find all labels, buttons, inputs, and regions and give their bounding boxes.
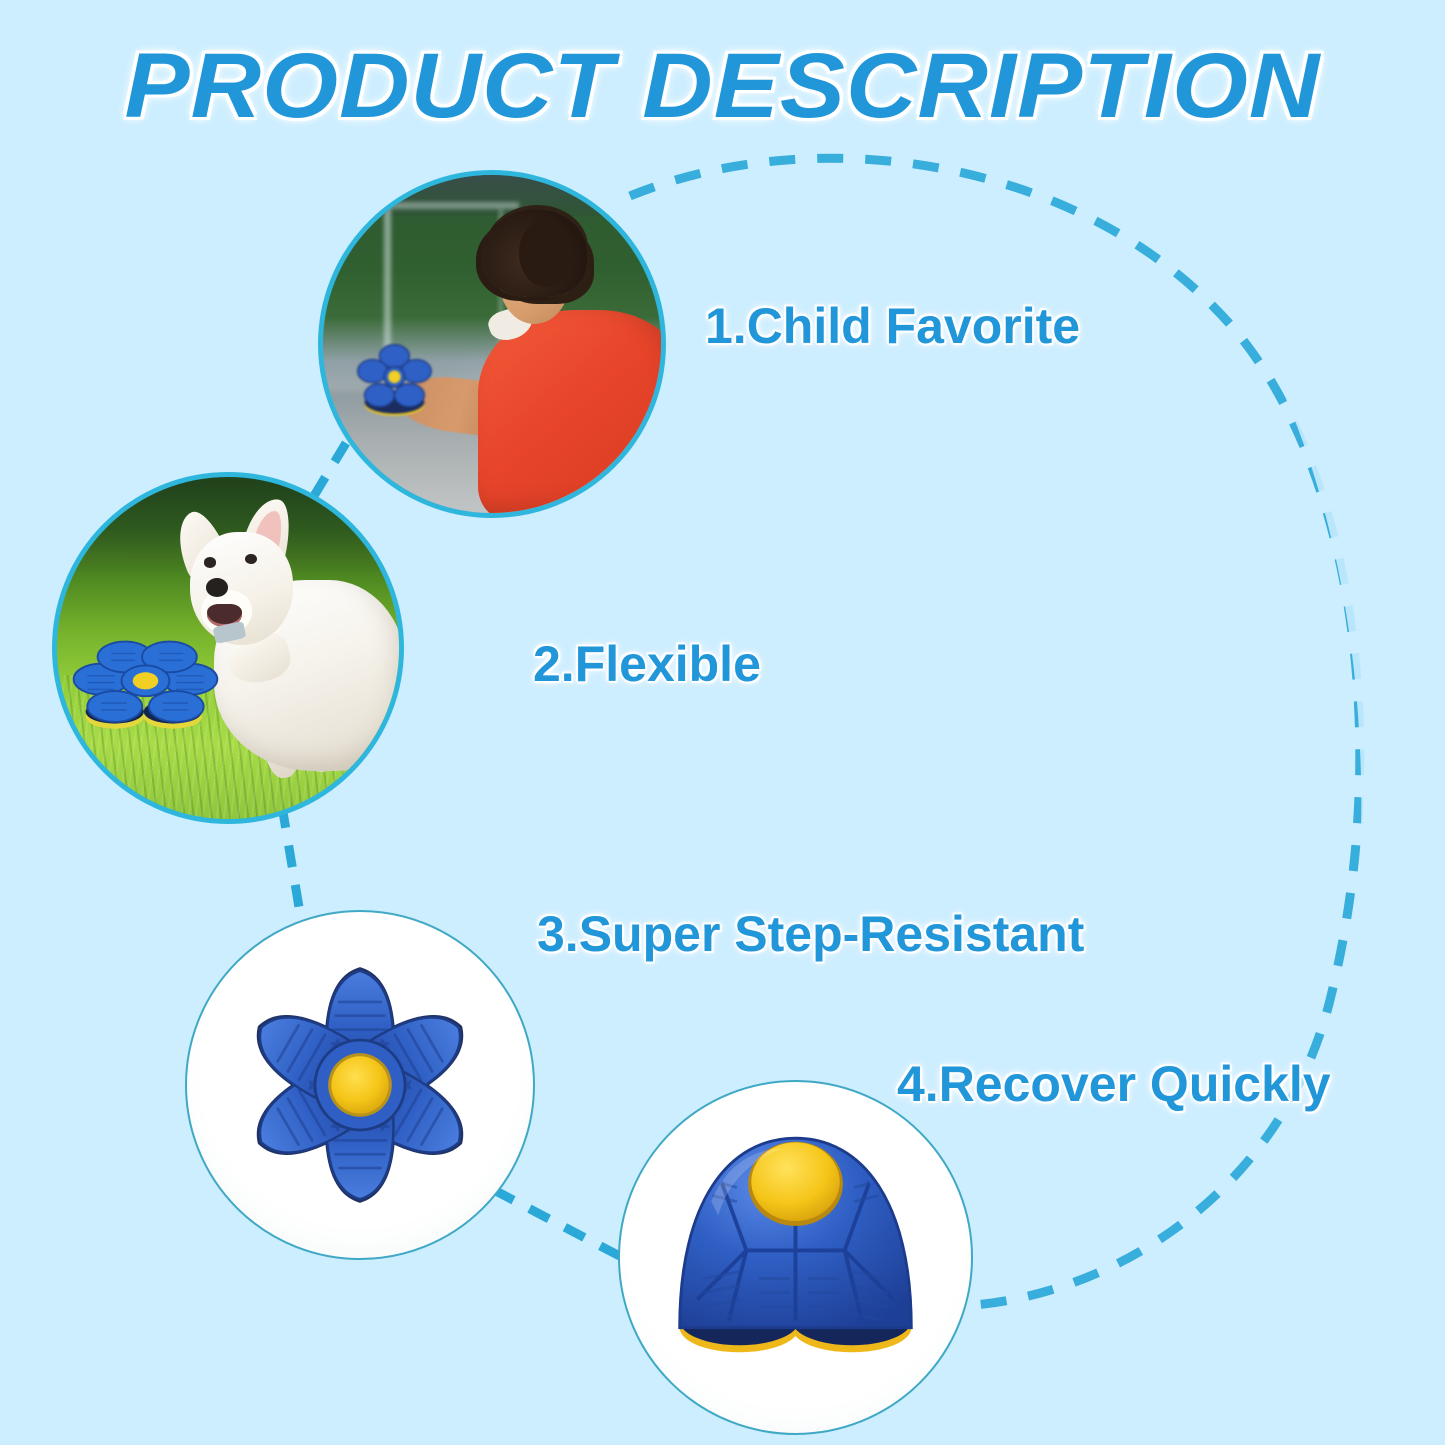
link-flexible-to-step-resistant (282, 806, 302, 925)
dog-eye-right (245, 554, 257, 564)
step-1-image-child-favorite (318, 170, 666, 518)
disc-in-hand (337, 324, 452, 439)
boy-red-shirt (478, 310, 666, 518)
step-4-image-recover-quickly (618, 1080, 973, 1435)
step-1-label: 1.Child Favorite (705, 297, 1080, 355)
step-3-image-step-resistant (185, 910, 535, 1260)
boy-hair-highlight (519, 219, 573, 287)
page-title: PRODUCT DESCRIPTION (0, 34, 1445, 139)
dog-eye-left (204, 557, 216, 567)
step-4-label: 4.Recover Quickly (897, 1055, 1331, 1113)
flat-flower-disc-graphic (187, 912, 533, 1258)
step-3-label: 3.Super Step-Resistant (537, 905, 1084, 963)
dome-ball-graphic (620, 1082, 971, 1433)
step-2-label: 2.Flexible (533, 635, 761, 693)
arc-fade-overlay (1150, 120, 1445, 1010)
dog-nose (206, 578, 228, 597)
product-description-infographic: PRODUCT DESCRIPTION (0, 0, 1445, 1445)
step-2-image-flexible (52, 472, 404, 824)
flat-disc-on-grass (60, 621, 231, 744)
